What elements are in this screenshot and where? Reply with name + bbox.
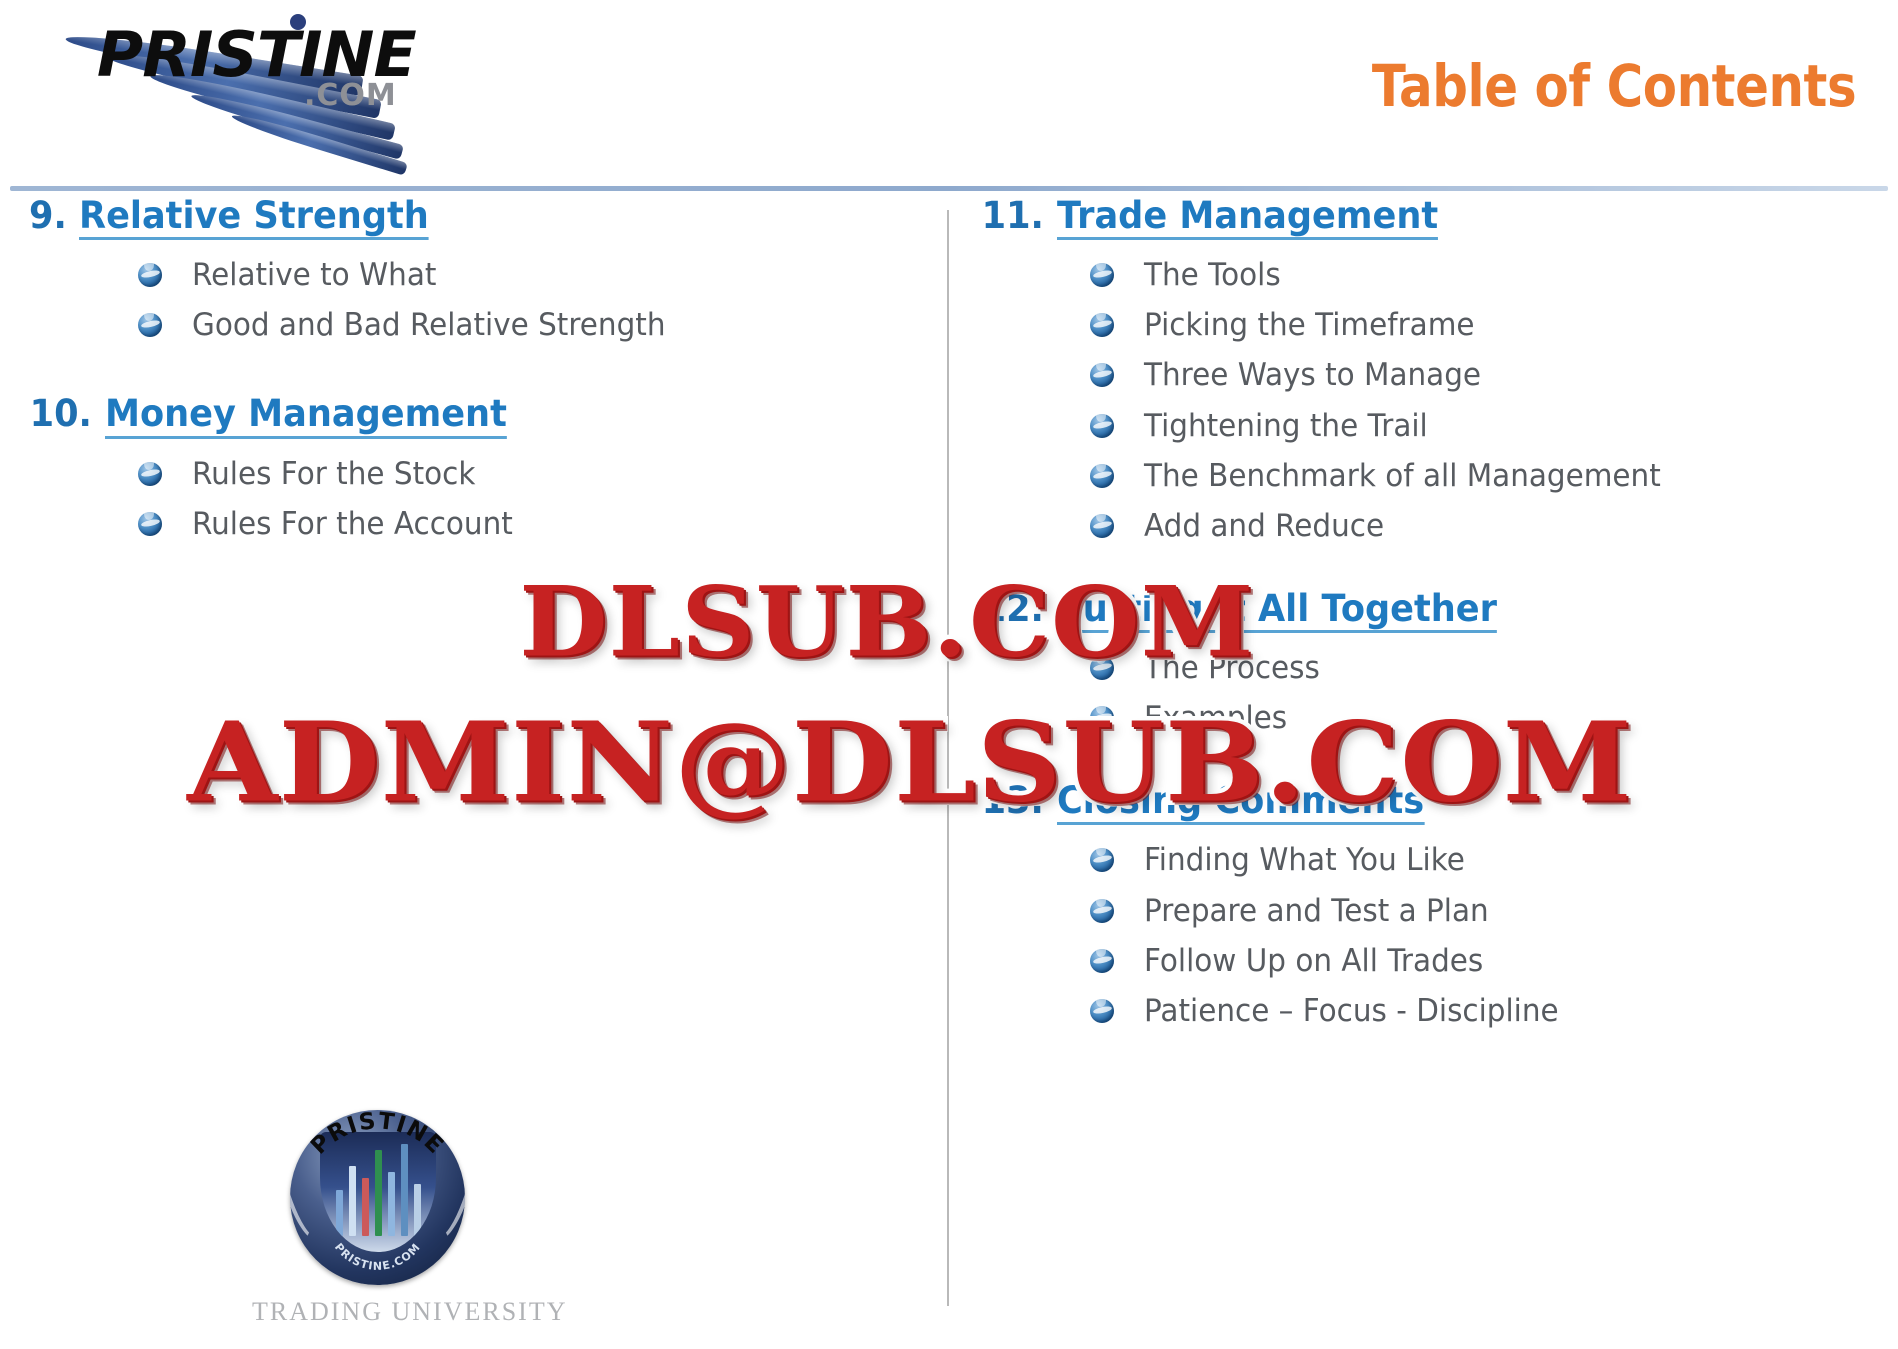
toc-section: 9.Relative StrengthRelative to WhatGood …: [28, 196, 928, 342]
toc-subitem-list: The ToolsPicking the TimeframeThree Ways…: [980, 258, 1880, 543]
globe-bullet-icon: [1090, 313, 1114, 337]
toc-section-number: 11.: [982, 196, 1044, 235]
toc-subitem[interactable]: Rules For the Account: [138, 507, 928, 541]
globe-bullet-icon: [1090, 949, 1114, 973]
slide-table-of-contents: PRISTINE .COM Table of Contents 9.Relati…: [0, 0, 1898, 1349]
logo-dot-icon: [290, 14, 306, 30]
toc-section: 13.Closing CommentsFinding What You Like…: [980, 781, 1880, 1028]
globe-bullet-icon: [1090, 363, 1114, 387]
globe-bullet-icon: [1090, 706, 1114, 730]
globe-bullet-icon: [1090, 899, 1114, 923]
toc-subitem-label: Picking the Timeframe: [1144, 308, 1475, 342]
toc-subitem-label: Rules For the Account: [192, 507, 513, 541]
toc-column-right: 11.Trade ManagementThe ToolsPicking the …: [980, 196, 1880, 1074]
toc-section-link[interactable]: Money Management: [105, 394, 507, 438]
page-title: Table of Contents: [1372, 52, 1856, 120]
pristine-logo: PRISTINE .COM: [52, 8, 472, 168]
toc-section-heading[interactable]: 10.Money Management: [28, 394, 928, 438]
globe-bullet-icon: [1090, 848, 1114, 872]
toc-subitem-label: The Benchmark of all Management: [1144, 459, 1661, 493]
toc-subitem-list: Rules For the StockRules For the Account: [28, 457, 928, 541]
toc-subitem[interactable]: Examples: [1090, 701, 1880, 735]
seal-inner-arc-text: PRISTINE.COM: [290, 1219, 465, 1279]
header-divider-rule: [10, 186, 1888, 191]
globe-bullet-icon: [1090, 464, 1114, 488]
toc-subitem[interactable]: Follow Up on All Trades: [1090, 944, 1880, 978]
toc-subitem-list: The ProcessExamples: [980, 651, 1880, 735]
toc-section: 10.Money ManagementRules For the StockRu…: [28, 394, 928, 540]
toc-subitem-label: Examples: [1144, 701, 1287, 735]
toc-subitem[interactable]: Prepare and Test a Plan: [1090, 894, 1880, 928]
toc-section-heading[interactable]: 12.Putting It All Together: [980, 589, 1880, 633]
toc-subitem-label: Add and Reduce: [1144, 509, 1384, 543]
toc-section-heading[interactable]: 11.Trade Management: [980, 196, 1880, 240]
toc-column-left: 9.Relative StrengthRelative to WhatGood …: [28, 196, 928, 593]
toc-subitem-label: Tightening the Trail: [1144, 409, 1428, 443]
toc-section: 12.Putting It All TogetherThe ProcessExa…: [980, 589, 1880, 735]
toc-subitem[interactable]: Tightening the Trail: [1090, 409, 1880, 443]
toc-subitem-label: Relative to What: [192, 258, 436, 292]
toc-section-link[interactable]: Closing Comments: [1057, 781, 1424, 825]
toc-subitem-label: Rules For the Stock: [192, 457, 475, 491]
toc-subitem[interactable]: Picking the Timeframe: [1090, 308, 1880, 342]
toc-subitem[interactable]: Three Ways to Manage: [1090, 358, 1880, 392]
toc-section-number: 10.: [30, 394, 92, 433]
toc-subitem[interactable]: Rules For the Stock: [138, 457, 928, 491]
slide-header: PRISTINE .COM Table of Contents: [0, 0, 1898, 188]
toc-section-number: 13.: [982, 781, 1044, 820]
toc-section-number: 9.: [29, 196, 67, 235]
globe-bullet-icon: [138, 512, 162, 536]
toc-subitem[interactable]: The Tools: [1090, 258, 1880, 292]
toc-section-link[interactable]: Trade Management: [1057, 196, 1438, 240]
toc-subitem-list: Finding What You LikePrepare and Test a …: [980, 843, 1880, 1027]
toc-subitem-label: Finding What You Like: [1144, 843, 1465, 877]
seal-inner-label: PRISTINE.COM: [331, 1241, 422, 1273]
toc-section-link[interactable]: Putting It All Together: [1057, 589, 1497, 633]
globe-bullet-icon: [138, 462, 162, 486]
toc-subitem-list: Relative to WhatGood and Bad Relative St…: [28, 258, 928, 342]
toc-subitem[interactable]: Finding What You Like: [1090, 843, 1880, 877]
pristine-trading-university-logo: PRISTINE PRISTINE.COM TRADING UNIVERSITY: [252, 1110, 502, 1340]
column-divider: [947, 210, 949, 1306]
toc-subitem-label: Follow Up on All Trades: [1144, 944, 1483, 978]
toc-subitem-label: The Process: [1144, 651, 1320, 685]
globe-bullet-icon: [1090, 656, 1114, 680]
toc-section-number: 12.: [982, 589, 1044, 628]
svg-text:PRISTINE.COM: PRISTINE.COM: [331, 1241, 422, 1273]
globe-bullet-icon: [138, 263, 162, 287]
toc-subitem[interactable]: Relative to What: [138, 258, 928, 292]
globe-bullet-icon: [1090, 414, 1114, 438]
toc-subitem-label: Prepare and Test a Plan: [1144, 894, 1489, 928]
globe-bullet-icon: [138, 313, 162, 337]
globe-bullet-icon: [1090, 263, 1114, 287]
toc-subitem[interactable]: Good and Bad Relative Strength: [138, 308, 928, 342]
toc-section-heading[interactable]: 13.Closing Comments: [980, 781, 1880, 825]
toc-subitem-label: Three Ways to Manage: [1144, 358, 1481, 392]
toc-section-link[interactable]: Relative Strength: [79, 196, 429, 240]
toc-subitem[interactable]: The Benchmark of all Management: [1090, 459, 1880, 493]
toc-subitem[interactable]: Add and Reduce: [1090, 509, 1880, 543]
toc-subitem-label: The Tools: [1144, 258, 1281, 292]
seal-caption: TRADING UNIVERSITY: [252, 1297, 502, 1327]
seal-badge-icon: PRISTINE PRISTINE.COM: [290, 1110, 465, 1285]
toc-section: 11.Trade ManagementThe ToolsPicking the …: [980, 196, 1880, 543]
logo-dotcom-text: .COM: [304, 78, 397, 113]
toc-subitem-label: Good and Bad Relative Strength: [192, 308, 666, 342]
toc-subitem[interactable]: The Process: [1090, 651, 1880, 685]
toc-section-heading[interactable]: 9.Relative Strength: [28, 196, 928, 240]
toc-subitem[interactable]: Patience – Focus - Discipline: [1090, 994, 1880, 1028]
globe-bullet-icon: [1090, 514, 1114, 538]
toc-subitem-label: Patience – Focus - Discipline: [1144, 994, 1559, 1028]
globe-bullet-icon: [1090, 999, 1114, 1023]
